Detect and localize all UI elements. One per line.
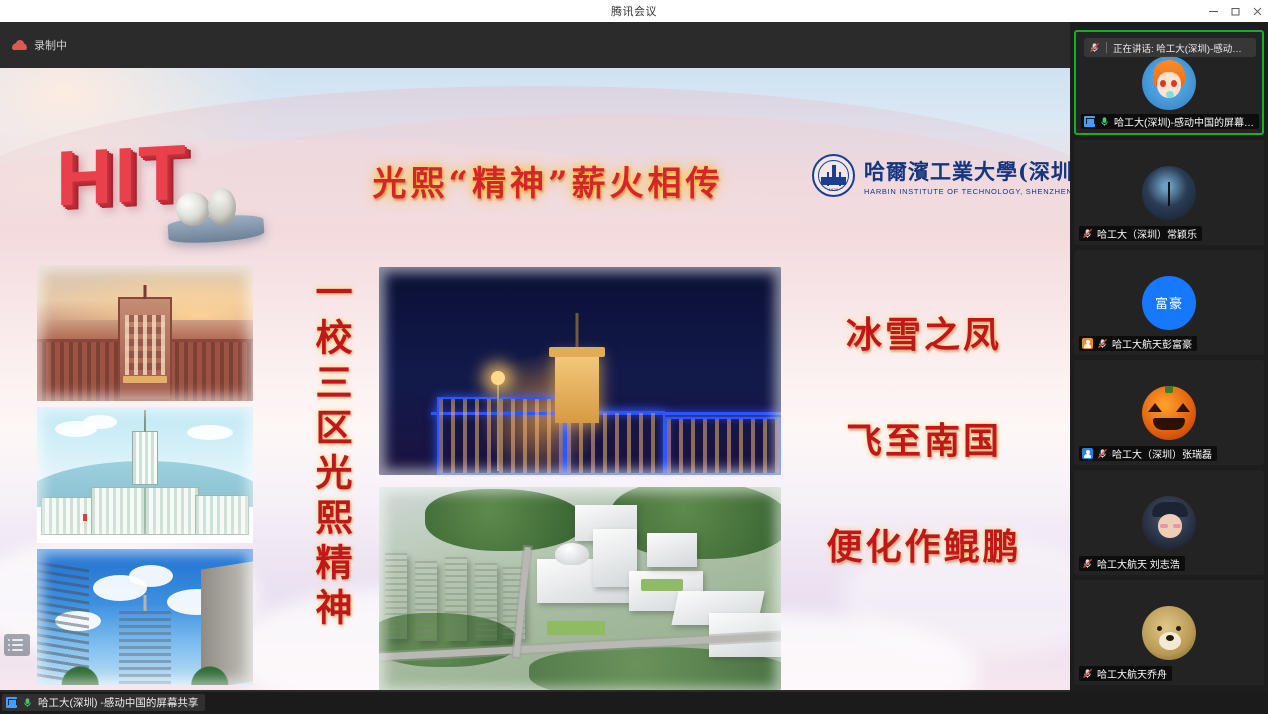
avatar-initials: 富豪 <box>1155 293 1183 312</box>
recording-icon <box>12 39 27 51</box>
avatar <box>1142 386 1196 440</box>
shared-slide: HIT 光熙“精神”薪火相传 1920 哈爾濱工業大學(深圳) HARBIN I… <box>0 68 1070 690</box>
participant-name: 哈工大航天彭富豪 <box>1112 336 1192 351</box>
avatar <box>1142 56 1196 110</box>
tencent-meeting-window: 腾讯会议 录制中 <box>0 0 1268 714</box>
photo-night-campus <box>379 267 781 475</box>
screen-share-icon <box>1084 116 1095 127</box>
hit-stone-decor <box>208 188 236 226</box>
avatar <box>1142 606 1196 660</box>
meeting-body: 录制中 HIT 光熙“精神”薪火相传 <box>0 22 1268 692</box>
avatar <box>1142 166 1196 220</box>
photo-blue-sky-towers <box>37 549 253 685</box>
mic-muted-icon <box>1082 228 1093 239</box>
participant-name: 哈工大航天乔舟 <box>1097 666 1167 681</box>
participant-name: 哈工大（深圳）常颖乐 <box>1097 226 1197 241</box>
stage-top-bar: 录制中 <box>0 22 1070 68</box>
participant-name: 哈工大(深圳)-感动中国的屏幕共享 <box>1114 114 1254 129</box>
participant-name-bar: 哈工大（深圳）常颖乐 <box>1079 226 1202 241</box>
screen-share-status[interactable]: 哈工大(深圳) -感动中国的屏幕共享 <box>2 694 205 711</box>
speaking-indicator: 正在讲话: 哈工大(深圳)-感动中... <box>1084 38 1256 57</box>
window-title: 腾讯会议 <box>611 3 657 19</box>
participant-tile[interactable]: 正在讲话: 哈工大(深圳)-感动中... 哈工大(深圳)-感动中国的屏幕共享 <box>1074 30 1264 135</box>
slide-options-button[interactable] <box>4 634 30 656</box>
speaking-indicator-text: 正在讲话: 哈工大(深圳)-感动中... <box>1113 41 1248 55</box>
hit-logo-text: HIT <box>56 127 188 225</box>
mic-muted-icon <box>1097 338 1108 349</box>
mic-muted-icon <box>1097 448 1108 459</box>
vertical-slogan: 一校三区光熙精神 <box>300 273 354 633</box>
mic-muted-icon <box>1082 558 1093 569</box>
mic-on-icon <box>22 697 33 708</box>
participant-sidebar[interactable]: 正在讲话: 哈工大(深圳)-感动中... 哈工大(深圳)-感动中国的屏幕共享 <box>1070 22 1268 692</box>
poem-line-1: 冰雪之凤 <box>800 306 1048 358</box>
participant-name-bar: 哈工大航天乔舟 <box>1079 666 1172 681</box>
screen-share-status-label: 哈工大(深圳) -感动中国的屏幕共享 <box>38 695 198 710</box>
mic-muted-icon <box>1082 668 1093 679</box>
participant-name: 哈工大（深圳）张瑞磊 <box>1112 446 1212 461</box>
co-host-icon <box>1082 448 1093 459</box>
close-button[interactable] <box>1246 0 1268 22</box>
avatar <box>1142 496 1196 550</box>
photo-aerial-shenzhen-campus <box>379 487 781 690</box>
participant-name-bar: 哈工大航天彭富豪 <box>1079 336 1197 351</box>
host-icon <box>1082 338 1093 349</box>
avatar: 富豪 <box>1142 276 1196 330</box>
window-controls <box>1202 0 1268 22</box>
photo-campus-illustration <box>37 407 253 543</box>
minimize-button[interactable] <box>1202 0 1224 22</box>
photo-harbin-main-building <box>37 265 253 401</box>
participant-name-bar: 哈工大（深圳）张瑞磊 <box>1079 446 1217 461</box>
poem-line-3: 便化作鲲鹏 <box>800 518 1048 570</box>
university-name-cn: 哈爾濱工業大學(深圳) <box>864 156 1070 186</box>
participant-tile[interactable]: 哈工大（深圳）常颖乐 <box>1074 140 1264 245</box>
participant-name: 哈工大航天 刘志浩 <box>1097 556 1180 571</box>
poem-line-2: 飞至南国 <box>800 412 1048 464</box>
university-logo: 1920 哈爾濱工業大學(深圳) HARBIN INSTITUTE OF TEC… <box>812 154 1070 197</box>
maximize-button[interactable] <box>1224 0 1246 22</box>
screen-share-icon <box>6 697 17 708</box>
poem-block: 冰雪之凤 飞至南国 便化作鲲鹏 <box>800 306 1048 624</box>
university-name-en: HARBIN INSTITUTE OF TECHNOLOGY, SHENZHEN <box>864 187 1070 196</box>
participant-tile[interactable]: 富豪 哈工大航天彭富豪 <box>1074 250 1264 355</box>
participant-tile[interactable]: 哈工大（深圳）张瑞磊 <box>1074 360 1264 465</box>
participant-tile[interactable]: 哈工大航天 刘志浩 <box>1074 470 1264 575</box>
screen-share-stage: 录制中 HIT 光熙“精神”薪火相传 <box>0 22 1070 692</box>
mic-on-icon <box>1099 116 1110 127</box>
participant-name-bar: 哈工大航天 刘志浩 <box>1079 556 1185 571</box>
mic-muted-icon <box>1089 42 1100 53</box>
recording-label: 录制中 <box>34 37 67 53</box>
slide-headline: 光熙“精神”薪火相传 <box>358 156 738 205</box>
title-bar: 腾讯会议 <box>0 0 1268 22</box>
participant-name-bar: 哈工大(深圳)-感动中国的屏幕共享 <box>1081 114 1259 129</box>
bottom-status-bar: 哈工大(深圳) -感动中国的屏幕共享 <box>0 692 1268 714</box>
university-crest-icon: 1920 <box>812 154 855 197</box>
participant-tile[interactable]: 哈工大航天乔舟 <box>1074 580 1264 685</box>
